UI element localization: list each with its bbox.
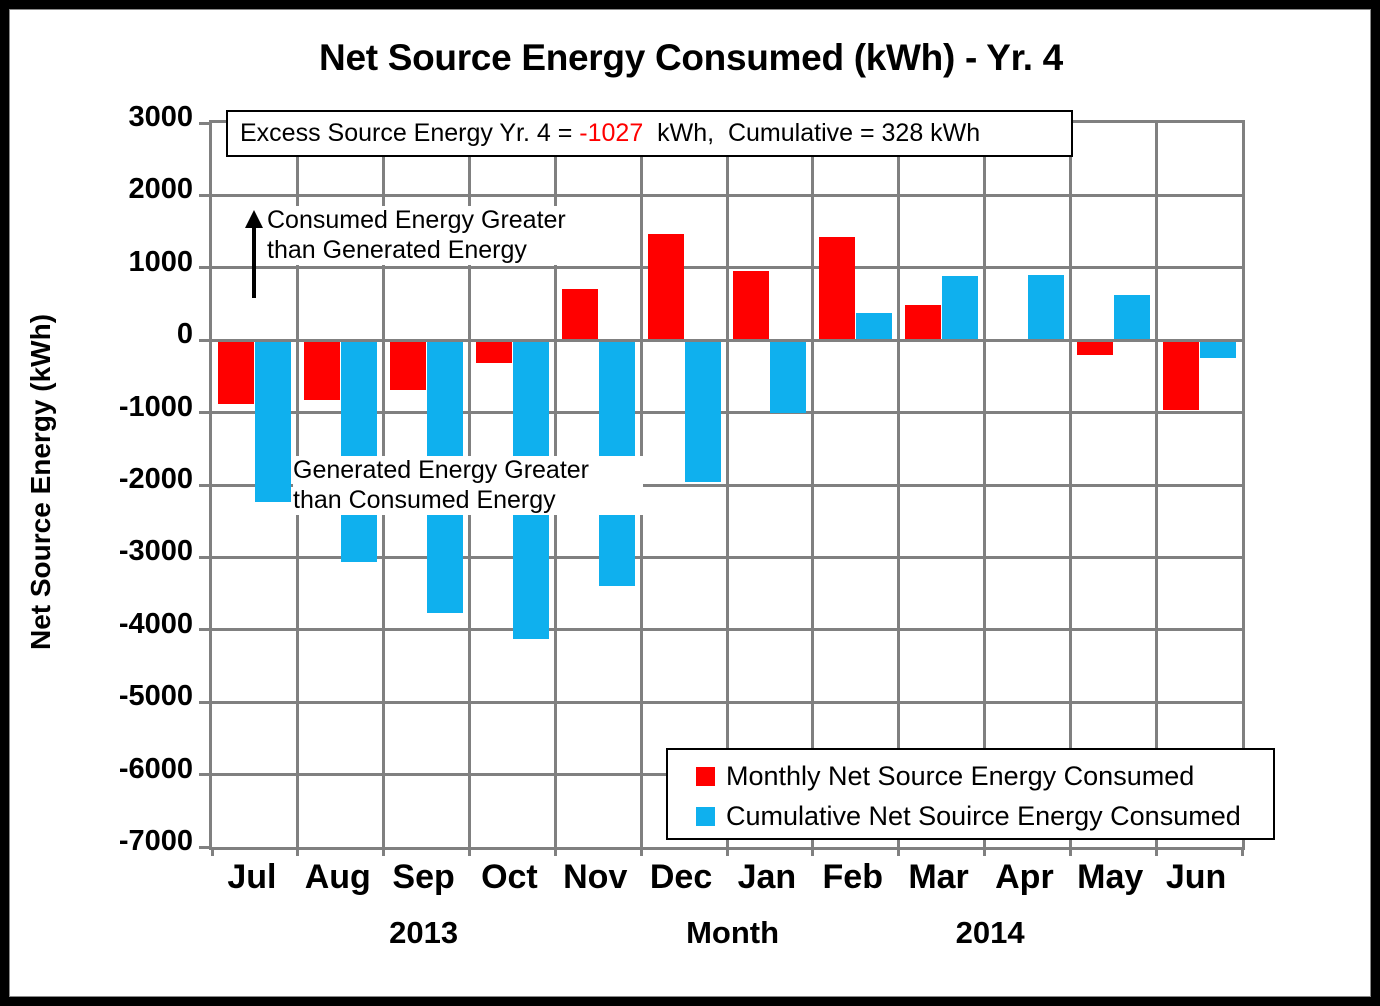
x-axis-tick-label: Oct bbox=[467, 858, 553, 897]
x-axis-group-labels: 2013Month2014 bbox=[209, 915, 1245, 961]
y-axis-tick-label: 2000 bbox=[33, 173, 193, 206]
x-axis-tick-label: Mar bbox=[896, 858, 982, 897]
bar-monthly-may[interactable] bbox=[1077, 340, 1113, 355]
legend-label: Monthly Net Source Energy Consumed bbox=[726, 761, 1194, 792]
bar-monthly-nov[interactable] bbox=[562, 289, 598, 340]
gridline-vertical bbox=[726, 123, 729, 847]
y-axis-tick bbox=[199, 701, 209, 704]
bar-cumulative-dec[interactable] bbox=[685, 340, 721, 482]
bar-monthly-jan[interactable] bbox=[733, 271, 769, 340]
y-axis-tick bbox=[199, 773, 209, 776]
bar-cumulative-may[interactable] bbox=[1114, 295, 1150, 341]
bar-monthly-sep[interactable] bbox=[390, 340, 426, 390]
y-axis-tick bbox=[199, 556, 209, 559]
y-axis-tick-label: -3000 bbox=[33, 535, 193, 568]
legend-item[interactable]: Cumulative Net Souirce Energy Consumed bbox=[696, 796, 1273, 836]
y-axis-tick bbox=[199, 628, 209, 631]
bar-cumulative-jul[interactable] bbox=[255, 340, 291, 502]
legend-swatch-icon bbox=[696, 807, 715, 826]
chart-canvas: Net Source Energy Consumed (kWh) - Yr. 4… bbox=[9, 9, 1371, 997]
y-axis-tick-label: -7000 bbox=[33, 825, 193, 858]
legend-swatch-icon bbox=[696, 767, 715, 786]
y-axis-tick-label: 3000 bbox=[33, 101, 193, 134]
bar-cumulative-jun[interactable] bbox=[1200, 340, 1236, 358]
gridline-vertical bbox=[897, 123, 900, 847]
y-axis-tick-label: -1000 bbox=[33, 391, 193, 424]
y-axis-tick bbox=[199, 484, 209, 487]
x-axis-tick bbox=[983, 847, 986, 856]
y-axis-tick-label: 0 bbox=[33, 318, 193, 351]
y-axis-tick bbox=[199, 846, 209, 849]
x-axis-tick bbox=[1241, 847, 1244, 856]
legend-label: Cumulative Net Souirce Energy Consumed bbox=[726, 801, 1241, 832]
bar-cumulative-feb[interactable] bbox=[856, 313, 892, 340]
gridline-zero bbox=[212, 339, 1242, 342]
x-axis-tick bbox=[468, 847, 471, 856]
x-axis-group-label: 2013 bbox=[338, 915, 510, 951]
up-arrow-icon bbox=[241, 210, 267, 300]
x-axis-tick-label: Apr bbox=[982, 858, 1068, 897]
gridline-vertical bbox=[983, 123, 986, 847]
bar-cumulative-jan[interactable] bbox=[770, 340, 806, 412]
x-axis-tick bbox=[382, 847, 385, 856]
gridline-vertical bbox=[1155, 123, 1158, 847]
x-axis-tick bbox=[726, 847, 729, 856]
bar-cumulative-mar[interactable] bbox=[942, 276, 978, 340]
bar-monthly-feb[interactable] bbox=[819, 237, 855, 340]
outer-frame: Net Source Energy Consumed (kWh) - Yr. 4… bbox=[0, 0, 1380, 1006]
note-consumed-greater: Consumed Energy Greater than Generated E… bbox=[267, 206, 617, 265]
x-axis-tick-label: Jul bbox=[209, 858, 295, 897]
excess-prefix-text: Excess Source Energy Yr. 4 = bbox=[240, 119, 579, 148]
gridline-vertical bbox=[811, 123, 814, 847]
x-axis-tick bbox=[211, 847, 214, 856]
x-axis-tick-label: Nov bbox=[552, 858, 638, 897]
chart-title: Net Source Energy Consumed (kWh) - Yr. 4 bbox=[10, 37, 1371, 79]
legend-item[interactable]: Monthly Net Source Energy Consumed bbox=[696, 756, 1273, 796]
x-axis-tick-label: Dec bbox=[638, 858, 724, 897]
x-axis-tick-label: Feb bbox=[810, 858, 896, 897]
y-axis-tick-label: 1000 bbox=[33, 246, 193, 279]
y-axis-tick-label: -6000 bbox=[33, 753, 193, 786]
y-axis-tick-labels: 3000200010000-1000-2000-3000-4000-5000-6… bbox=[18, 120, 193, 844]
y-axis-tick-label: -5000 bbox=[33, 680, 193, 713]
bar-cumulative-aug[interactable] bbox=[341, 340, 377, 562]
x-axis-tick-label: May bbox=[1067, 858, 1153, 897]
excess-suffix-text: kWh, Cumulative = 328 kWh bbox=[643, 119, 980, 148]
bar-monthly-aug[interactable] bbox=[304, 340, 340, 400]
x-axis-tick bbox=[640, 847, 643, 856]
x-axis-tick-label: Jan bbox=[724, 858, 810, 897]
bar-cumulative-apr[interactable] bbox=[1028, 275, 1064, 340]
x-axis-tick bbox=[554, 847, 557, 856]
x-axis-group-label: Month bbox=[647, 915, 819, 951]
x-axis-tick bbox=[897, 847, 900, 856]
x-axis-tick-label: Jun bbox=[1153, 858, 1239, 897]
x-axis-tick-labels: JulAugSepOctNovDecJanFebMarAprMayJun bbox=[209, 858, 1245, 904]
x-axis-tick bbox=[1155, 847, 1158, 856]
excess-energy-annotation: Excess Source Energy Yr. 4 = -1027 kWh, … bbox=[226, 110, 1073, 157]
bar-monthly-mar[interactable] bbox=[905, 305, 941, 340]
x-axis-tick bbox=[811, 847, 814, 856]
excess-value-text: -1027 bbox=[579, 119, 643, 148]
y-axis-tick bbox=[199, 194, 209, 197]
x-axis-tick bbox=[1069, 847, 1072, 856]
chart-legend: Monthly Net Source Energy ConsumedCumula… bbox=[666, 748, 1275, 840]
y-axis-tick-label: -4000 bbox=[33, 608, 193, 641]
x-axis-tick bbox=[296, 847, 299, 856]
x-axis-group-label: 2014 bbox=[904, 915, 1076, 951]
x-axis-tick-label: Aug bbox=[295, 858, 381, 897]
y-axis-tick bbox=[199, 266, 209, 269]
y-axis-tick bbox=[199, 411, 209, 414]
bar-monthly-dec[interactable] bbox=[648, 234, 684, 340]
bar-monthly-jul[interactable] bbox=[218, 340, 254, 404]
note-generated-greater: Generated Energy Greater than Consumed E… bbox=[293, 456, 643, 515]
y-axis-tick bbox=[199, 122, 209, 125]
y-axis-tick-label: -2000 bbox=[33, 463, 193, 496]
y-axis-tick bbox=[199, 339, 209, 342]
bar-monthly-jun[interactable] bbox=[1163, 340, 1199, 410]
x-axis-tick-label: Sep bbox=[381, 858, 467, 897]
gridline-vertical bbox=[1069, 123, 1072, 847]
bar-monthly-oct[interactable] bbox=[476, 340, 512, 363]
